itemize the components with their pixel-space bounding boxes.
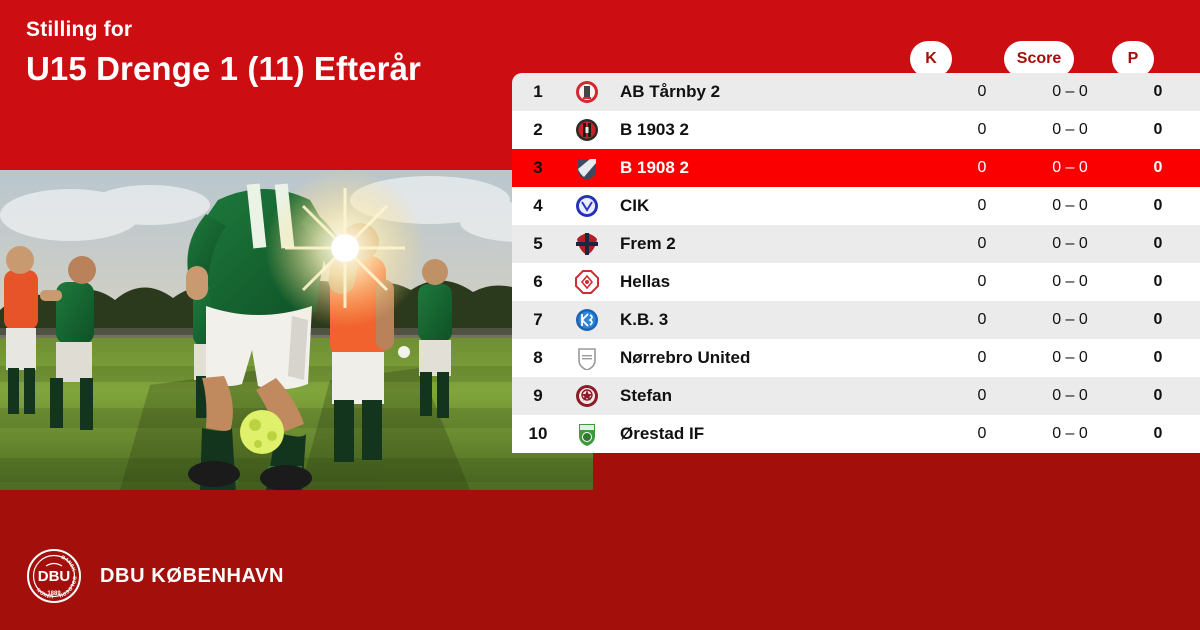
poster-canvas: Stilling for U15 Drenge 1 (11) Efterår [0, 0, 1200, 630]
table-row[interactable]: 6 Hellas 0 0 – 0 0 [512, 263, 1200, 301]
row-position: 1 [512, 82, 564, 102]
frem-crest [564, 232, 610, 256]
table-row[interactable]: 9 Stefan 0 0 – 0 0 [512, 377, 1200, 415]
table-row[interactable]: 1 AB Tårnby 2 0 0 – 0 0 [512, 73, 1200, 111]
row-k: 0 [940, 235, 1024, 253]
b1903-crest [564, 118, 610, 142]
row-score: 0 – 0 [1024, 197, 1116, 215]
table-row[interactable]: 5 Frem 2 0 0 – 0 0 [512, 225, 1200, 263]
table-row[interactable]: 3 B 1908 2 0 0 – 0 0 [512, 149, 1200, 187]
table-row[interactable]: 2 B 1903 2 0 0 – 0 0 [512, 111, 1200, 149]
table-row[interactable]: 4 CIK 0 0 – 0 0 [512, 187, 1200, 225]
row-team-name: CIK [610, 196, 940, 216]
row-team-name: Hellas [610, 272, 940, 292]
row-score: 0 – 0 [1024, 425, 1116, 443]
row-position: 8 [512, 348, 564, 368]
row-points: 0 [1116, 83, 1200, 101]
column-header-score: Score [1004, 41, 1074, 77]
row-position: 6 [512, 272, 564, 292]
row-points: 0 [1116, 387, 1200, 405]
row-points: 0 [1116, 273, 1200, 291]
dbu-crest-logo: DANSK · BOLDSPIL · UNION DBU · 1889 · [26, 548, 82, 604]
row-k: 0 [940, 159, 1024, 177]
row-k: 0 [940, 425, 1024, 443]
row-k: 0 [940, 197, 1024, 215]
svg-text:· 1889 ·: · 1889 · [44, 591, 65, 597]
header-block: Stilling for U15 Drenge 1 (11) Efterår [26, 18, 496, 88]
row-points: 0 [1116, 311, 1200, 329]
row-score: 0 – 0 [1024, 311, 1116, 329]
row-position: 2 [512, 120, 564, 140]
row-score: 0 – 0 [1024, 387, 1116, 405]
row-position: 10 [512, 424, 564, 444]
row-points: 0 [1116, 197, 1200, 215]
row-position: 7 [512, 310, 564, 330]
column-header-k: K [910, 41, 952, 77]
noerrebro-crest [564, 346, 610, 370]
row-points: 0 [1116, 159, 1200, 177]
row-team-name: Stefan [610, 386, 940, 406]
oerestad-crest [564, 422, 610, 446]
svg-text:DBU: DBU [38, 568, 71, 585]
row-score: 0 – 0 [1024, 83, 1116, 101]
row-team-name: Ørestad IF [610, 424, 940, 444]
row-score: 0 – 0 [1024, 159, 1116, 177]
row-team-name: Frem 2 [610, 234, 940, 254]
b1908-crest [564, 156, 610, 180]
standings-table: 1 AB Tårnby 2 0 0 – 0 0 2 B 1903 2 0 0 –… [512, 73, 1200, 453]
table-row[interactable]: 8 Nørrebro United 0 0 – 0 0 [512, 339, 1200, 377]
organisation-name: DBU KØBENHAVN [100, 565, 284, 588]
row-team-name: B 1903 2 [610, 120, 940, 140]
ab-taarnby-crest [564, 80, 610, 104]
column-header-p: P [1112, 41, 1154, 77]
row-team-name: K.B. 3 [610, 310, 940, 330]
row-score: 0 – 0 [1024, 349, 1116, 367]
row-position: 3 [512, 158, 564, 178]
row-position: 5 [512, 234, 564, 254]
table-row[interactable]: 7 K.B. 3 0 0 – 0 0 [512, 301, 1200, 339]
footer-block: DANSK · BOLDSPIL · UNION DBU · 1889 · DB… [26, 548, 284, 604]
row-points: 0 [1116, 349, 1200, 367]
row-score: 0 – 0 [1024, 273, 1116, 291]
row-score: 0 – 0 [1024, 121, 1116, 139]
row-k: 0 [940, 349, 1024, 367]
row-k: 0 [940, 121, 1024, 139]
row-k: 0 [940, 311, 1024, 329]
row-points: 0 [1116, 425, 1200, 443]
row-k: 0 [940, 83, 1024, 101]
stefan-crest [564, 384, 610, 408]
row-score: 0 – 0 [1024, 235, 1116, 253]
row-k: 0 [940, 273, 1024, 291]
page-title: U15 Drenge 1 (11) Efterår [26, 50, 496, 88]
cik-crest [564, 194, 610, 218]
row-team-name: B 1908 2 [610, 158, 940, 178]
row-k: 0 [940, 387, 1024, 405]
table-row[interactable]: 10 Ørestad IF 0 0 – 0 0 [512, 415, 1200, 453]
page-kicker: Stilling for [26, 18, 496, 41]
row-position: 9 [512, 386, 564, 406]
row-position: 4 [512, 196, 564, 216]
row-points: 0 [1116, 235, 1200, 253]
row-team-name: AB Tårnby 2 [610, 82, 940, 102]
football-match-photo [0, 170, 593, 490]
kb-crest [564, 308, 610, 332]
hellas-crest [564, 270, 610, 294]
row-points: 0 [1116, 121, 1200, 139]
row-team-name: Nørrebro United [610, 348, 940, 368]
